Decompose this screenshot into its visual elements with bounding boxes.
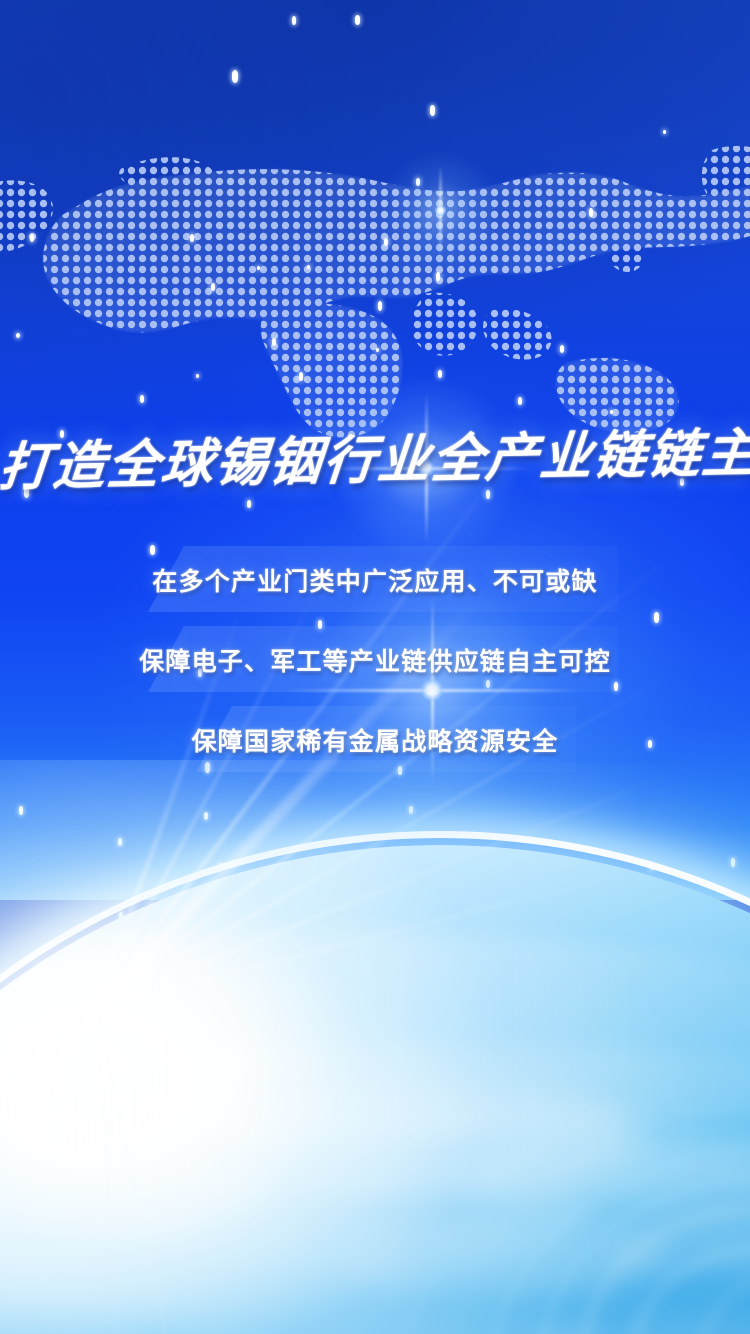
earth-limb-graphic [0,845,750,1334]
world-map-svg [0,110,750,440]
poster-canvas: 打造全球锡铟行业全产业链链主 在多个产业门类中广泛应用、不可或缺 保障电子、军工… [0,0,750,1334]
world-map-graphic [0,110,750,440]
